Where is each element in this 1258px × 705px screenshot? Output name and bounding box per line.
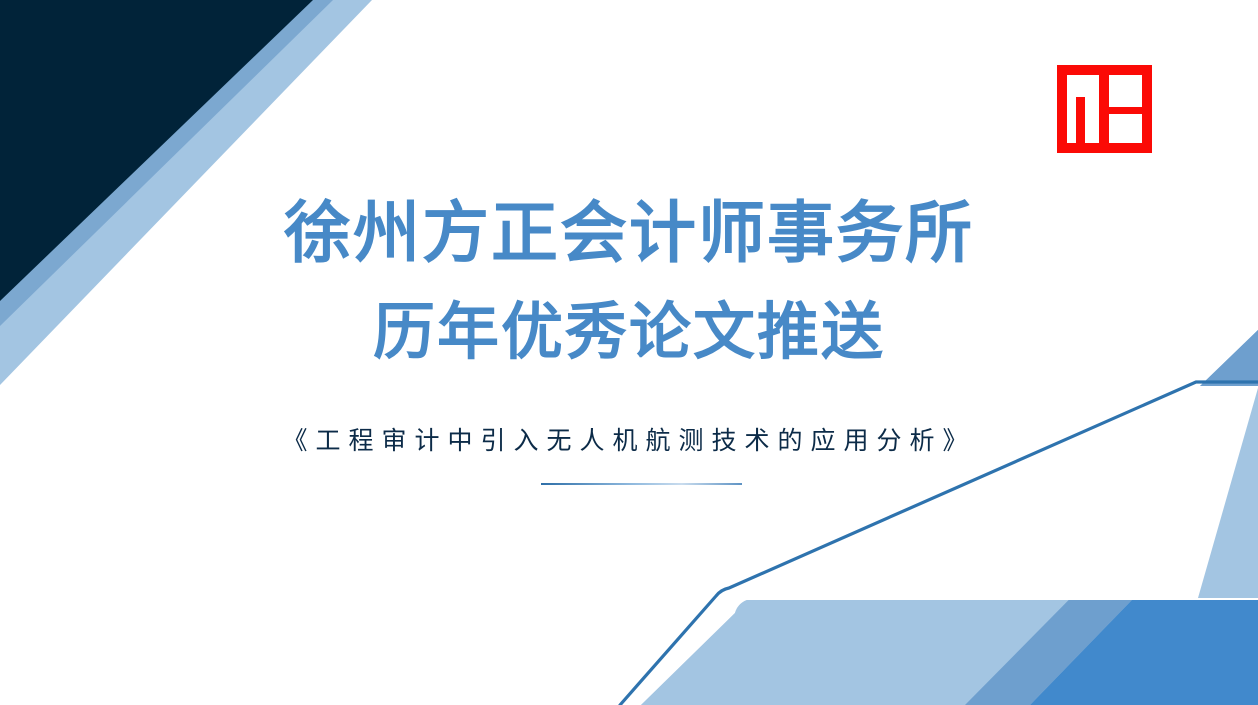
page-title-line-1: 徐州方正会计师事务所: [0, 194, 1258, 274]
title-divider-line: [541, 483, 742, 485]
slide-canvas: 徐州方正会计师事务所 历年优秀论文推送 《工程审计中引入无人机航测技术的应用分析…: [0, 0, 1258, 705]
page-title-line-2: 历年优秀论文推送: [0, 296, 1258, 370]
title-block: 徐州方正会计师事务所 历年优秀论文推送 《工程审计中引入无人机航测技术的应用分析…: [0, 0, 1258, 705]
paper-subtitle: 《工程审计中引入无人机航测技术的应用分析》: [0, 424, 1258, 458]
